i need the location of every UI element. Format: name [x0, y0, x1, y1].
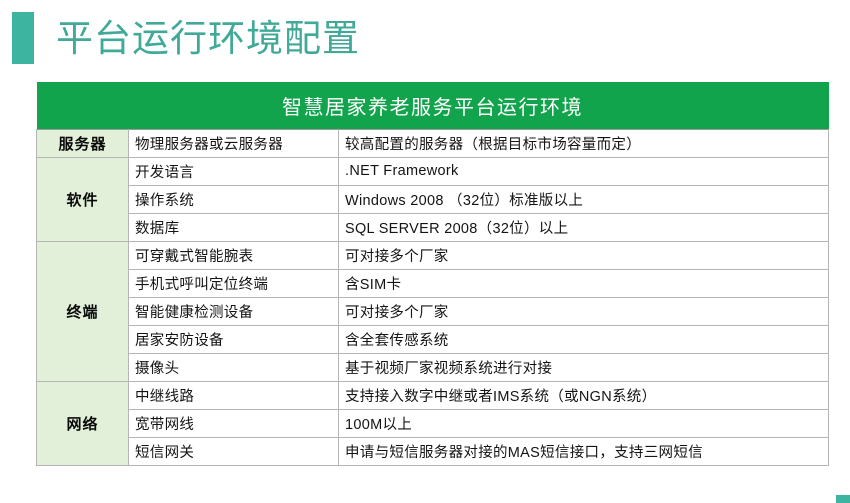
slide-title-row: 平台运行环境配置: [0, 8, 360, 68]
row-item-spec: .NET Framework: [339, 157, 829, 185]
table-body: 服务器物理服务器或云服务器较高配置的服务器（根据目标市场容量而定）软件开发语言.…: [37, 129, 829, 465]
table-row: 短信网关申请与短信服务器对接的MAS短信接口，支持三网短信: [37, 437, 829, 465]
row-item-name: 物理服务器或云服务器: [129, 129, 339, 157]
row-item-spec: 申请与短信服务器对接的MAS短信接口，支持三网短信: [339, 437, 829, 465]
table-row: 数据库SQL SERVER 2008（32位）以上: [37, 213, 829, 241]
table-row: 终端可穿戴式智能腕表可对接多个厂家: [37, 241, 829, 269]
slide-canvas: 平台运行环境配置 智慧居家养老服务平台运行环境 服务器物理服务器或云服务器较高配…: [0, 0, 850, 503]
row-item-name: 可穿戴式智能腕表: [129, 241, 339, 269]
row-item-name: 智能健康检测设备: [129, 297, 339, 325]
row-item-name: 手机式呼叫定位终端: [129, 269, 339, 297]
row-item-name: 短信网关: [129, 437, 339, 465]
row-item-spec: 可对接多个厂家: [339, 241, 829, 269]
row-item-name: 操作系统: [129, 185, 339, 213]
table-row: 网络中继线路支持接入数字中继或者IMS系统（或NGN系统）: [37, 381, 829, 409]
row-item-spec: 较高配置的服务器（根据目标市场容量而定）: [339, 129, 829, 157]
row-item-name: 中继线路: [129, 381, 339, 409]
table-head: 智慧居家养老服务平台运行环境: [37, 82, 829, 129]
row-item-spec: 含SIM卡: [339, 269, 829, 297]
row-item-name: 数据库: [129, 213, 339, 241]
table-banner-row: 智慧居家养老服务平台运行环境: [37, 82, 829, 129]
row-item-spec: 含全套传感系统: [339, 325, 829, 353]
environment-table: 智慧居家养老服务平台运行环境 服务器物理服务器或云服务器较高配置的服务器（根据目…: [36, 82, 829, 466]
title-accent-bar: [12, 12, 34, 64]
table-row: 智能健康检测设备可对接多个厂家: [37, 297, 829, 325]
table-row: 宽带网线100M以上: [37, 409, 829, 437]
table-row: 软件开发语言.NET Framework: [37, 157, 829, 185]
environment-table-wrapper: 智慧居家养老服务平台运行环境 服务器物理服务器或云服务器较高配置的服务器（根据目…: [36, 82, 828, 466]
table-row: 操作系统Windows 2008 （32位）标准版以上: [37, 185, 829, 213]
corner-decoration: [836, 495, 850, 503]
row-item-name: 开发语言: [129, 157, 339, 185]
row-group-label: 网络: [37, 381, 129, 465]
page-title: 平台运行环境配置: [56, 20, 360, 57]
row-item-name: 居家安防设备: [129, 325, 339, 353]
row-item-spec: 100M以上: [339, 409, 829, 437]
row-item-name: 摄像头: [129, 353, 339, 381]
row-item-name: 宽带网线: [129, 409, 339, 437]
table-banner-title: 智慧居家养老服务平台运行环境: [37, 82, 829, 129]
row-item-spec: 基于视频厂家视频系统进行对接: [339, 353, 829, 381]
row-item-spec: 支持接入数字中继或者IMS系统（或NGN系统）: [339, 381, 829, 409]
row-item-spec: Windows 2008 （32位）标准版以上: [339, 185, 829, 213]
table-row: 手机式呼叫定位终端含SIM卡: [37, 269, 829, 297]
table-row: 摄像头基于视频厂家视频系统进行对接: [37, 353, 829, 381]
row-group-label: 终端: [37, 241, 129, 381]
row-group-label: 软件: [37, 157, 129, 241]
row-group-label: 服务器: [37, 129, 129, 157]
table-row: 服务器物理服务器或云服务器较高配置的服务器（根据目标市场容量而定）: [37, 129, 829, 157]
table-row: 居家安防设备含全套传感系统: [37, 325, 829, 353]
row-item-spec: SQL SERVER 2008（32位）以上: [339, 213, 829, 241]
row-item-spec: 可对接多个厂家: [339, 297, 829, 325]
